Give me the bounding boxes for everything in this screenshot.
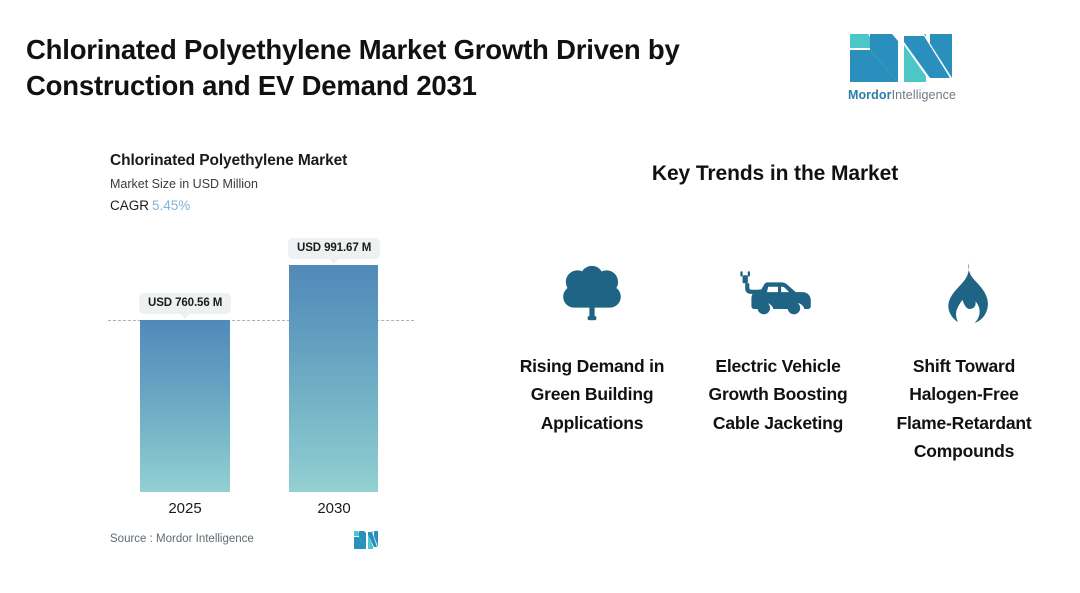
logo-word-secondary: Intelligence (892, 88, 956, 102)
source-text: Source : Mordor Intelligence (110, 533, 254, 545)
electric-car-icon (739, 260, 817, 326)
source-row: Source : Mordor Intelligence (110, 530, 390, 554)
trend-label-green-building: Rising Demand in Green Building Applicat… (517, 352, 667, 437)
trend-label-electric-vehicle: Electric Vehicle Growth Boosting Cable J… (703, 352, 853, 437)
logo-word-primary: Mordor (848, 88, 892, 102)
bar-value-badge-2025: USD 760.56 M (139, 293, 231, 314)
trend-card-electric-vehicle: Electric Vehicle Growth Boosting Cable J… (694, 260, 862, 437)
trend-cards: Rising Demand in Green Building Applicat… (508, 260, 1048, 465)
logo-wordmark: MordorIntelligence (846, 88, 958, 102)
trend-card-green-building: Rising Demand in Green Building Applicat… (508, 260, 676, 437)
bar-2025 (140, 320, 230, 492)
trends-panel: Key Trends in the Market Rising Demand i… (470, 140, 1080, 580)
bar-chart-plot: USD 760.56 M USD 991.67 M 2025 2030 (0, 140, 470, 570)
tree-icon (561, 260, 623, 326)
mordor-logo-mark (846, 30, 958, 84)
source-mordor-logo-icon (353, 530, 379, 550)
mordor-intelligence-logo: MordorIntelligence (846, 30, 958, 110)
trend-card-flame-retardant: Shift Toward Halogen-Free Flame-Retardan… (880, 260, 1048, 465)
trend-label-flame-retardant: Shift Toward Halogen-Free Flame-Retardan… (889, 352, 1039, 465)
bar-2030 (289, 265, 378, 492)
x-axis-label-2030: 2030 (284, 500, 384, 517)
header: Chlorinated Polyethylene Market Growth D… (0, 0, 1080, 125)
x-axis-label-2025: 2025 (135, 500, 235, 517)
page-title: Chlorinated Polyethylene Market Growth D… (26, 32, 746, 104)
chart-panel: Chlorinated Polyethylene Market Market S… (0, 140, 470, 570)
bar-value-badge-2030: USD 991.67 M (288, 238, 380, 259)
flame-icon (938, 260, 990, 326)
trends-heading: Key Trends in the Market (470, 162, 1080, 186)
